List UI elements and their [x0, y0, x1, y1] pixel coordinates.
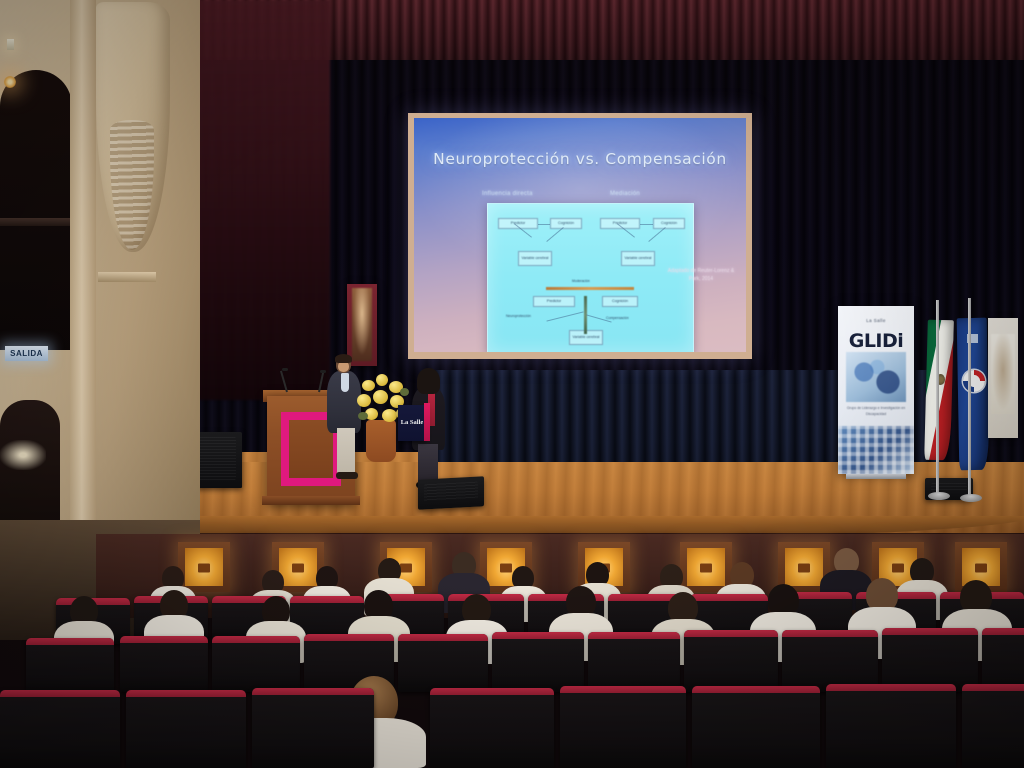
auditorium-seat [882, 628, 978, 692]
diagram-moderator-bar [546, 287, 634, 290]
diagram-edge [538, 224, 550, 225]
diagram-node: Predictor [533, 296, 575, 307]
diagram-edge [546, 227, 563, 242]
auditorium-photo-scene: Neuroprotección vs. Compensación Influen… [0, 0, 1024, 768]
presenter-shirt [341, 373, 349, 392]
auditorium-seat [588, 632, 680, 692]
flag-base [928, 492, 950, 500]
auditorium-seat [962, 684, 1024, 768]
display-easel [988, 318, 1018, 438]
easel-artwork [991, 334, 1015, 414]
roll-up-banner: La Salle GLIDi Grupo de Liderazgo e Inve… [838, 306, 914, 474]
diagram-node: Cognición [550, 218, 582, 229]
banner-title: GLIDi [838, 330, 914, 352]
stage-monitor-speaker [418, 476, 484, 509]
framed-portrait [347, 284, 377, 366]
auditorium-seat [982, 628, 1024, 692]
diagram-edge-label: Neuroprotección [506, 314, 531, 318]
portrait-image [352, 288, 372, 361]
flagpole [968, 298, 971, 498]
auditorium-seat [560, 686, 686, 768]
gift-bag-trim [424, 403, 430, 441]
projection-screen: Neuroprotección vs. Compensación Influen… [408, 113, 752, 359]
diagram-edge-label: Compensación [606, 316, 629, 320]
auditorium-seat [120, 636, 208, 692]
diagram-node: Variable cerebral [621, 251, 655, 266]
lectern-base [262, 496, 360, 505]
gift-bag: La Salle [398, 405, 426, 441]
slide-column-heading-right: Mediación [610, 191, 640, 197]
auditorium-seat [252, 688, 374, 768]
microphone-head [282, 368, 288, 371]
lower-arch-opening [0, 400, 60, 540]
balcony-railing [0, 218, 70, 226]
diagram-edge [640, 224, 653, 225]
gift-bag-brand: La Salle [398, 419, 426, 426]
mexico-flag [924, 320, 954, 461]
wall-light-fixture [7, 39, 14, 50]
diagram-group-label: Moderación [572, 279, 590, 283]
banner-stand [846, 474, 906, 479]
recipient-hair [417, 368, 440, 394]
banner-photo-strip [838, 426, 914, 474]
corbel-shelf [98, 272, 156, 282]
banner-artwork [846, 352, 906, 402]
wall-lamp-glow [4, 76, 16, 88]
auditorium-seat [826, 684, 956, 768]
microphone-head [320, 370, 326, 373]
flagpole [936, 300, 939, 496]
side-curtain-left [180, 0, 330, 400]
exit-sign-label: SALIDA [10, 349, 43, 358]
slide-surface: Neuroprotección vs. Compensación Influen… [414, 118, 746, 352]
auditorium-seat [430, 688, 554, 768]
floor-light-glow [0, 440, 46, 470]
diagram-edge [546, 311, 583, 321]
diagram-node: Predictor [600, 218, 640, 229]
presenter-hair [335, 354, 352, 363]
auditorium-seat [26, 638, 114, 694]
auditorium-seat [684, 630, 778, 692]
balcony-arch-opening [0, 70, 72, 350]
auditorium-seat [492, 632, 584, 692]
slide-title: Neuroprotección vs. Compensación [414, 150, 746, 168]
slide-column-heading-left: Influencia directa [482, 191, 533, 197]
wall-sconce [178, 542, 230, 592]
diagram-edge [648, 227, 665, 242]
banner-logo: La Salle [838, 318, 914, 323]
wall-sconce [680, 542, 732, 592]
auditorium-seat [126, 690, 246, 768]
presenter-legs [337, 428, 355, 476]
banner-body-text: Grupo de Liderazgo e Investigación en Di… [846, 406, 906, 418]
exit-sign: SALIDA [5, 346, 48, 361]
wall-pilaster [70, 0, 96, 540]
auditorium-seat [692, 686, 820, 768]
auditorium-seat [398, 634, 488, 692]
presenter-shoes [336, 472, 358, 479]
diagram-node: Cognición [602, 296, 638, 307]
slide-citation: Adaptado de Reuter-Lorenz & Park, 2014 [662, 268, 740, 283]
diagram-node: Variable cerebral [518, 251, 552, 266]
institutional-flag-emblem [963, 370, 985, 392]
auditorium-seat [0, 690, 120, 768]
flag-base [960, 494, 982, 502]
auditorium-seat [212, 636, 300, 692]
auditorium-seat [782, 630, 878, 692]
diagram-node: Cognición [653, 218, 685, 229]
